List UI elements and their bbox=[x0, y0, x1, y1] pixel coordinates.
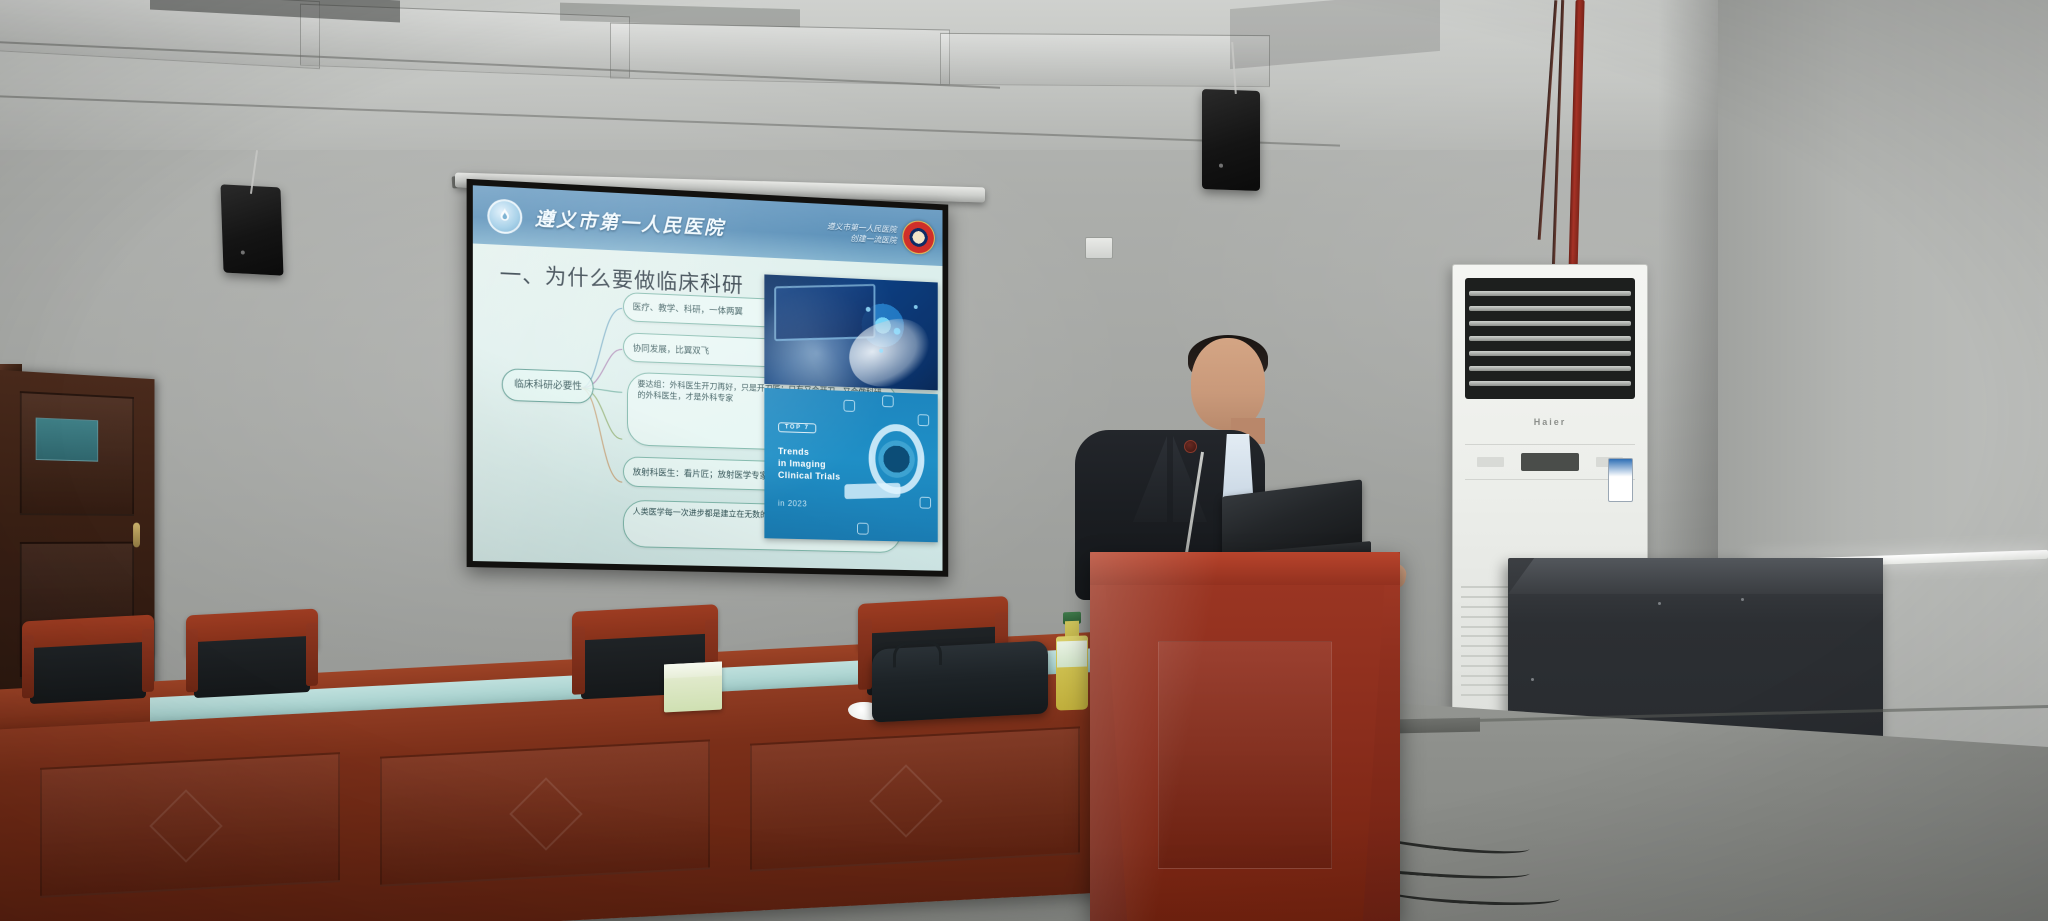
tissue-box-top bbox=[664, 661, 722, 678]
microphone-head-icon bbox=[1184, 440, 1197, 453]
ac-louver bbox=[1469, 291, 1632, 296]
podium bbox=[1090, 552, 1400, 921]
cabinet-screw bbox=[1741, 598, 1744, 601]
mri-top-label: TOP 7 bbox=[778, 423, 816, 434]
bottle-label bbox=[1057, 641, 1086, 667]
ac-louver bbox=[1469, 336, 1632, 341]
cooking-oil-bottle[interactable] bbox=[1056, 611, 1088, 710]
chair-armrest bbox=[572, 626, 585, 694]
chair-1[interactable] bbox=[22, 615, 154, 712]
air-conditioner-brand: Haier bbox=[1534, 417, 1567, 427]
ac-louver bbox=[1469, 366, 1632, 371]
speaker-left bbox=[220, 184, 283, 275]
ac-louver bbox=[1469, 321, 1632, 326]
ac-louver bbox=[1469, 351, 1632, 356]
mri-satellite-icon bbox=[918, 414, 929, 426]
mri-card-subtitle: in 2023 bbox=[778, 499, 807, 509]
chair-2[interactable] bbox=[186, 609, 318, 706]
presenter-head bbox=[1191, 338, 1265, 430]
cabinet-screw bbox=[1531, 678, 1534, 681]
mri-bed-shape bbox=[845, 483, 901, 500]
tissue-box[interactable] bbox=[664, 661, 722, 712]
mri-satellite-icon bbox=[882, 395, 894, 407]
laptop[interactable] bbox=[1222, 488, 1362, 556]
ac-louver bbox=[1469, 306, 1632, 311]
tech-accent-dot bbox=[893, 328, 900, 335]
door-handle[interactable] bbox=[133, 522, 140, 547]
chair-armrest bbox=[22, 635, 34, 699]
podium-top-surface bbox=[1090, 552, 1400, 585]
mri-title-line-3: Clinical Trials bbox=[778, 469, 840, 483]
jacket-lapel-left bbox=[1133, 436, 1167, 522]
speaker-right bbox=[1202, 89, 1260, 191]
door-sign bbox=[36, 418, 98, 462]
tech-accent-dot bbox=[866, 307, 871, 312]
wall-outlet-plate bbox=[1085, 237, 1113, 259]
chair-armrest bbox=[186, 629, 198, 693]
mindmap-root-node: 临床科研必要性 bbox=[502, 369, 594, 404]
tech-accent-dot bbox=[914, 305, 918, 309]
chair-armrest bbox=[306, 623, 318, 687]
mri-trends-card: TOP 7 Trends in Imaging Clinical Trials … bbox=[764, 388, 938, 542]
ac-button[interactable] bbox=[1477, 457, 1504, 467]
chair-armrest bbox=[142, 629, 154, 693]
speaker-led-icon bbox=[241, 250, 245, 254]
chair-seat bbox=[194, 636, 310, 698]
chair-seat bbox=[30, 642, 146, 704]
mri-satellite-icon bbox=[857, 522, 869, 534]
mindmap-node-2-label: 协同发展，比翼双飞 bbox=[633, 341, 709, 356]
ac-louver bbox=[1469, 381, 1632, 386]
mindmap-node-1-label: 医疗、教学、科研，一体两翼 bbox=[633, 301, 743, 318]
ceiling-panel bbox=[940, 33, 1270, 87]
mindmap-root-label: 临床科研必要性 bbox=[514, 378, 582, 394]
cabinet-top-panel bbox=[1508, 558, 1883, 594]
mindmap-node-4-label: 放射科医生：看片匠；放射医学专家? bbox=[633, 465, 773, 481]
mri-satellite-icon bbox=[843, 399, 855, 411]
tech-illustration-image bbox=[764, 274, 938, 390]
mri-satellite-icon bbox=[920, 497, 931, 509]
mri-card-title: Trends in Imaging Clinical Trials bbox=[778, 445, 840, 483]
conference-room-scene: 遵义市第一人民医院 遵义市第一人民医院 创建一流医院 一、为什么要做临床科研 bbox=[0, 0, 2048, 921]
bag-handle[interactable] bbox=[893, 640, 942, 667]
laptop-bag[interactable] bbox=[872, 640, 1048, 722]
podium-front-panel bbox=[1158, 641, 1332, 870]
ac-display bbox=[1521, 453, 1579, 472]
cabinet-screw bbox=[1658, 602, 1661, 605]
energy-label-sticker bbox=[1608, 458, 1633, 503]
chair-armrest bbox=[858, 619, 872, 690]
projection-screen: 遵义市第一人民医院 遵义市第一人民医院 创建一流医院 一、为什么要做临床科研 bbox=[467, 179, 949, 577]
air-conditioner-grille bbox=[1465, 278, 1636, 399]
slide-canvas: 遵义市第一人民医院 遵义市第一人民医院 创建一流医院 一、为什么要做临床科研 bbox=[473, 185, 943, 571]
speaker-led-icon bbox=[1219, 164, 1223, 168]
